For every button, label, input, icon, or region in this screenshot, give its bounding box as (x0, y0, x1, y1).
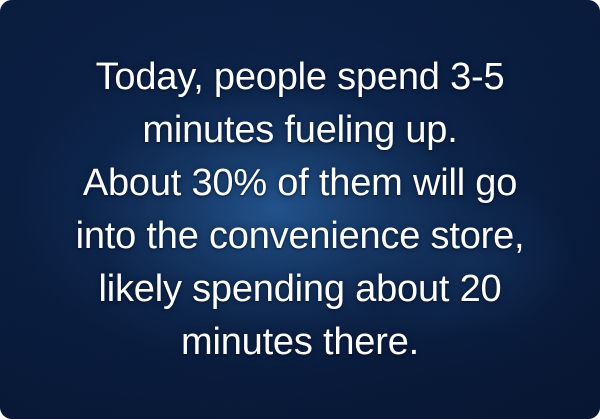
quote-line-5: likely spending about 20 (14, 263, 586, 316)
quote-line-1: Today, people spend 3-5 (14, 51, 586, 104)
quote-card: Today, people spend 3-5 minutes fueling … (0, 0, 600, 419)
quote-line-6: minutes there. (14, 316, 586, 369)
quote-text-block: Today, people spend 3-5 minutes fueling … (0, 51, 600, 369)
quote-line-3: About 30% of them will go (14, 157, 586, 210)
quote-line-2: minutes fueling up. (14, 104, 586, 157)
quote-line-4: into the convenience store, (14, 210, 586, 263)
